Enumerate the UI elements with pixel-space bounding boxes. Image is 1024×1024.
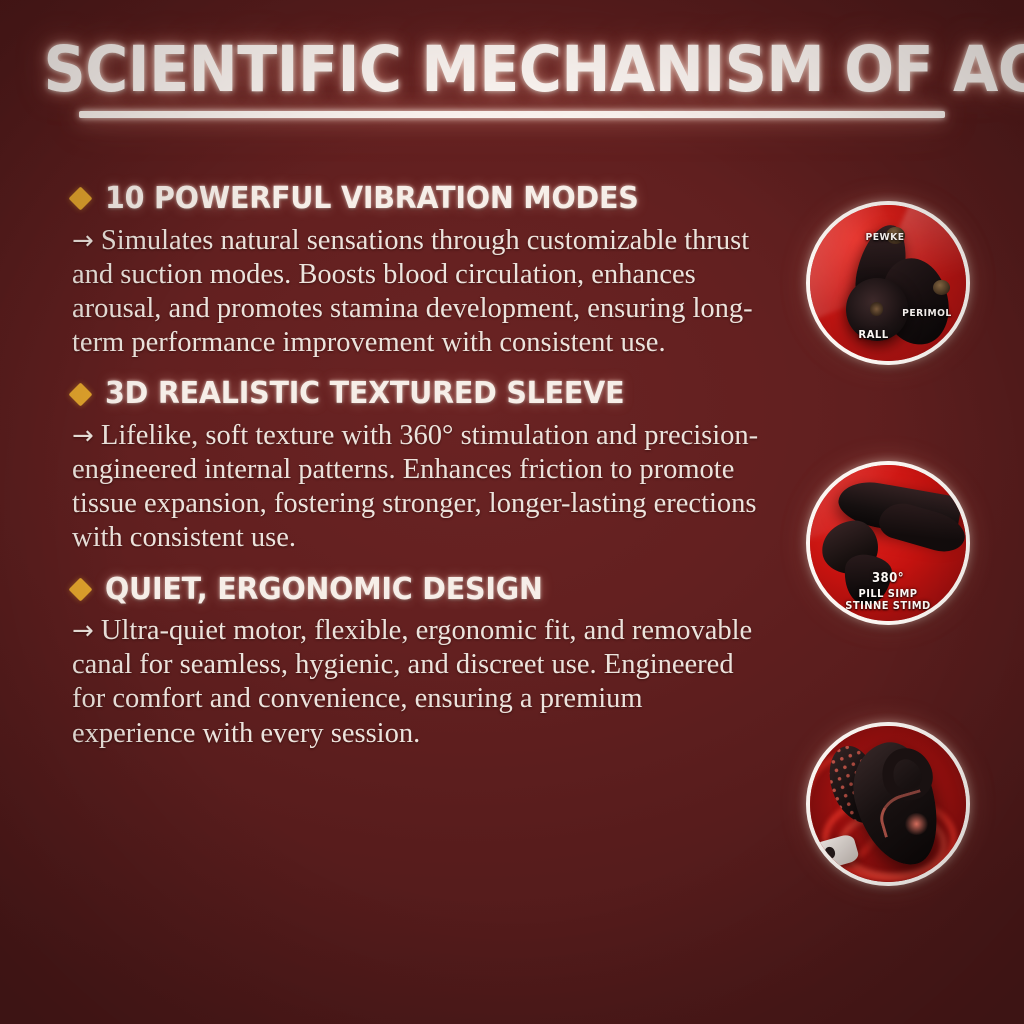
product-detail-nub (886, 227, 905, 244)
feature-body: → Ultra-quiet motor, flexible, ergonomic… (72, 614, 762, 751)
poster-header: SCIENTIFIC MECHANISM OF ACTION (0, 38, 1024, 118)
diamond-bullet-icon (68, 382, 92, 406)
feature-body-text: Ultra-quiet motor, flexible, ergonomic f… (72, 615, 752, 749)
feature-heading-row: 10 POWERFUL VIBRATION MODES (72, 183, 772, 215)
vibration-modes-photo: PEWKE PERIMOL RALL (806, 201, 970, 365)
page-title: SCIENTIFIC MECHANISM OF ACTION (43, 38, 1024, 101)
poster-canvas: SCIENTIFIC MECHANISM OF ACTION 10 POWERF… (0, 0, 1024, 1024)
feature-section-ergonomic-design: QUIET, ERGONOMIC DESIGN → Ultra-quiet mo… (72, 574, 772, 751)
ergonomic-design-photo (806, 722, 970, 886)
feature-body: → Simulates natural sensations through c… (72, 224, 762, 361)
textured-sleeve-photo: 380° PILL SIMP STINNE STIMD (806, 461, 970, 625)
arrow-icon: → (72, 421, 94, 451)
feature-heading-row: QUIET, ERGONOMIC DESIGN (72, 574, 772, 606)
feature-list: 10 POWERFUL VIBRATION MODES → Simulates … (72, 183, 772, 751)
photo-content: 380° PILL SIMP STINNE STIMD (810, 465, 966, 621)
photo-content: PEWKE PERIMOL RALL (810, 205, 966, 361)
feature-section-textured-sleeve: 3D REALISTIC TEXTURED SLEEVE → Lifelike,… (72, 378, 772, 555)
diamond-bullet-icon (68, 187, 92, 211)
product-glow-detail (904, 813, 929, 835)
feature-heading: 3D REALISTIC TEXTURED SLEEVE (105, 378, 624, 410)
title-underline-rule (79, 111, 945, 118)
product-cap-shape (846, 278, 908, 340)
arrow-icon: → (72, 226, 94, 256)
diamond-bullet-icon (68, 577, 92, 601)
feature-heading: QUIET, ERGONOMIC DESIGN (105, 574, 543, 606)
feature-section-vibration-modes: 10 POWERFUL VIBRATION MODES → Simulates … (72, 183, 772, 360)
feature-heading: 10 POWERFUL VIBRATION MODES (105, 183, 639, 215)
arrow-icon: → (72, 616, 94, 646)
photo-content (810, 726, 966, 882)
feature-body: → Lifelike, soft texture with 360° stimu… (72, 419, 762, 556)
feature-body-text: Lifelike, soft texture with 360° stimula… (72, 420, 758, 554)
feature-body-text: Simulates natural sensations through cus… (72, 225, 753, 359)
feature-heading-row: 3D REALISTIC TEXTURED SLEEVE (72, 378, 772, 410)
